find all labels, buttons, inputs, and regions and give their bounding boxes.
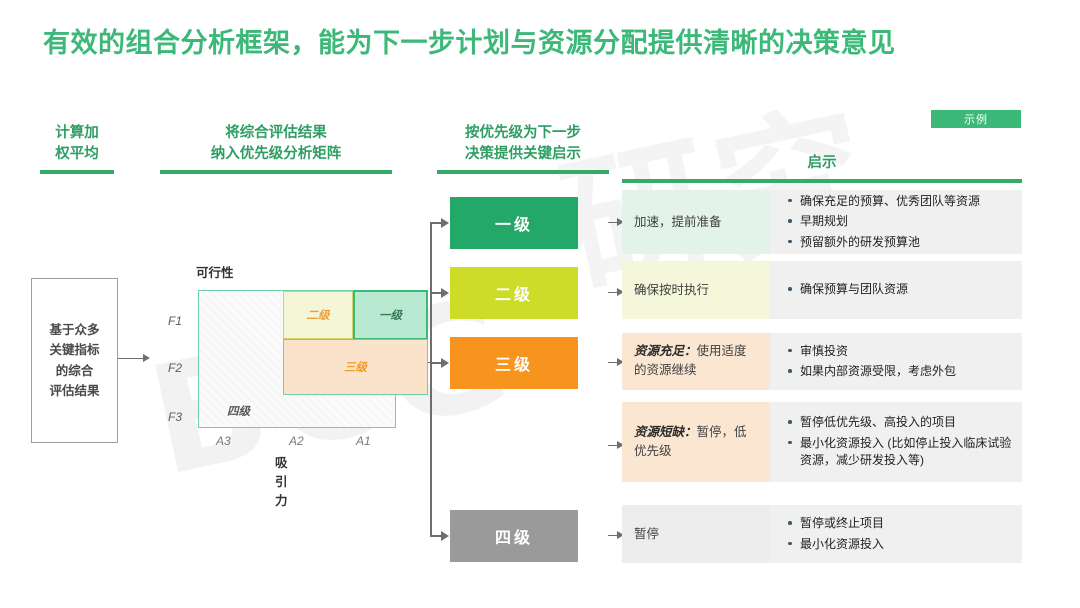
column-header-2-line1: 将综合评估结果	[160, 123, 392, 144]
column-header-3-underline	[437, 170, 609, 174]
connector-branch-level3-arrowhead	[441, 358, 449, 368]
connector-branch-level1-arrowhead	[441, 218, 449, 228]
matrix-ytick-f1: F1	[168, 314, 182, 328]
column-header-1: 计算加 权平均	[40, 123, 114, 174]
list-item: 确保预算与团队资源	[786, 281, 1016, 298]
matrix-xtick-a2: A2	[289, 434, 304, 448]
column-header-2-line2: 纳入优先级分析矩阵	[160, 144, 392, 165]
row-2-bullets: 确保预算与团队资源	[770, 261, 1022, 319]
column-header-1-line2: 权平均	[40, 144, 114, 165]
connector-branch-level2-arrowhead	[441, 288, 449, 298]
source-line-1: 基于众多	[49, 320, 99, 340]
page-title: 有效的组合分析框架，能为下一步计划与资源分配提供清晰的决策意见	[43, 26, 1003, 62]
list-item: 暂停低优先级、高投入的项目	[786, 414, 1016, 431]
row-3-bullets: 审慎投资 如果内部资源受限，考虑外包	[770, 333, 1022, 390]
column-header-1-line1: 计算加	[40, 123, 114, 144]
matrix-ytick-f2: F2	[168, 361, 182, 375]
row-1-key-text: 加速，提前准备	[634, 213, 722, 232]
list-item: 确保充足的预算、优秀团队等资源	[786, 193, 1016, 210]
slide-canvas: BCG 研究 有效的组合分析框架，能为下一步计划与资源分配提供清晰的决策意见 示…	[0, 0, 1080, 608]
connector-source-to-matrix	[116, 358, 144, 359]
level-box-1[interactable]: 一级	[450, 197, 578, 249]
column-header-4-underline	[622, 179, 1022, 183]
row-5-key: 暂停	[622, 505, 770, 563]
table-row: 加速，提前准备 确保充足的预算、优秀团队等资源 早期规划 预留额外的研发预算池	[622, 190, 1022, 254]
row-2-key-text: 确保按时执行	[634, 281, 709, 300]
matrix-xtick-a3: A3	[216, 434, 231, 448]
matrix-x-axis-title: 吸引力	[275, 452, 288, 509]
row-3-key: 资源充足：使用适度的资源继续	[622, 333, 770, 390]
connector-source-to-matrix-arrowhead	[143, 354, 150, 362]
level-box-2[interactable]: 二级	[450, 267, 578, 319]
column-header-3-line1: 按优先级为下一步	[437, 123, 609, 144]
source-assessment-text: 基于众多 关键指标 的综合 评估结果	[49, 320, 99, 401]
table-row: 确保按时执行 确保预算与团队资源	[622, 261, 1022, 319]
list-item: 预留额外的研发预算池	[786, 234, 1016, 251]
status-badge: 示例	[931, 110, 1021, 128]
row-4-key: 资源短缺：暂停，低优先级	[622, 402, 770, 482]
matrix-grid: 二级 一级 三级 四级	[198, 290, 396, 428]
row-4-key-emph: 资源短缺：	[634, 425, 697, 439]
list-item: 最小化资源投入 (比如停止投入临床试验资源，减少研发投入等)	[786, 435, 1016, 470]
list-item: 早期规划	[786, 213, 1016, 230]
matrix-cell-level4: 四级	[205, 395, 315, 427]
table-row: 资源短缺：暂停，低优先级 暂停低优先级、高投入的项目 最小化资源投入 (比如停止…	[622, 402, 1022, 482]
source-line-2: 关键指标	[49, 340, 99, 360]
column-header-2-underline	[160, 170, 392, 174]
source-line-4: 评估结果	[49, 381, 99, 401]
row-3-key-emph: 资源充足：	[634, 344, 697, 358]
row-4-bullets: 暂停低优先级、高投入的项目 最小化资源投入 (比如停止投入临床试验资源，减少研发…	[770, 402, 1022, 482]
table-row: 资源充足：使用适度的资源继续 审慎投资 如果内部资源受限，考虑外包	[622, 333, 1022, 390]
priority-matrix: 可行性 F1 F2 F3 二级 一级 三级 四级 A3 A2 A1 吸引力	[160, 262, 234, 281]
column-header-3-line2: 决策提供关键启示	[437, 144, 609, 165]
source-assessment-box: 基于众多 关键指标 的综合 评估结果	[31, 278, 118, 443]
connector-trunk-vertical	[430, 223, 432, 536]
list-item: 审慎投资	[786, 343, 1016, 360]
column-header-4-line1: 启示	[622, 153, 1022, 174]
matrix-cell-level3: 三级	[283, 339, 428, 395]
list-item: 最小化资源投入	[786, 536, 1016, 553]
matrix-cell-level1: 一级	[353, 290, 428, 340]
matrix-ytick-f3: F3	[168, 410, 182, 424]
list-item: 如果内部资源受限，考虑外包	[786, 363, 1016, 380]
column-header-1-underline	[40, 170, 114, 174]
row-5-bullets: 暂停或终止项目 最小化资源投入	[770, 505, 1022, 563]
table-row: 暂停 暂停或终止项目 最小化资源投入	[622, 505, 1022, 563]
matrix-xtick-a1: A1	[356, 434, 371, 448]
list-item: 暂停或终止项目	[786, 515, 1016, 532]
matrix-cell-level2: 二级	[283, 291, 353, 339]
row-5-key-text: 暂停	[634, 525, 659, 544]
row-1-bullets: 确保充足的预算、优秀团队等资源 早期规划 预留额外的研发预算池	[770, 190, 1022, 254]
row-1-key: 加速，提前准备	[622, 190, 770, 254]
level-box-3[interactable]: 三级	[450, 337, 578, 389]
connector-branch-level4-arrowhead	[441, 531, 449, 541]
source-line-3: 的综合	[49, 361, 99, 381]
matrix-y-axis-title: 可行性	[196, 262, 234, 281]
column-header-3: 按优先级为下一步 决策提供关键启示	[437, 123, 609, 174]
level-box-4[interactable]: 四级	[450, 510, 578, 562]
column-header-2: 将综合评估结果 纳入优先级分析矩阵	[160, 123, 392, 174]
row-2-key: 确保按时执行	[622, 261, 770, 319]
column-header-4: 启示	[622, 153, 1022, 183]
